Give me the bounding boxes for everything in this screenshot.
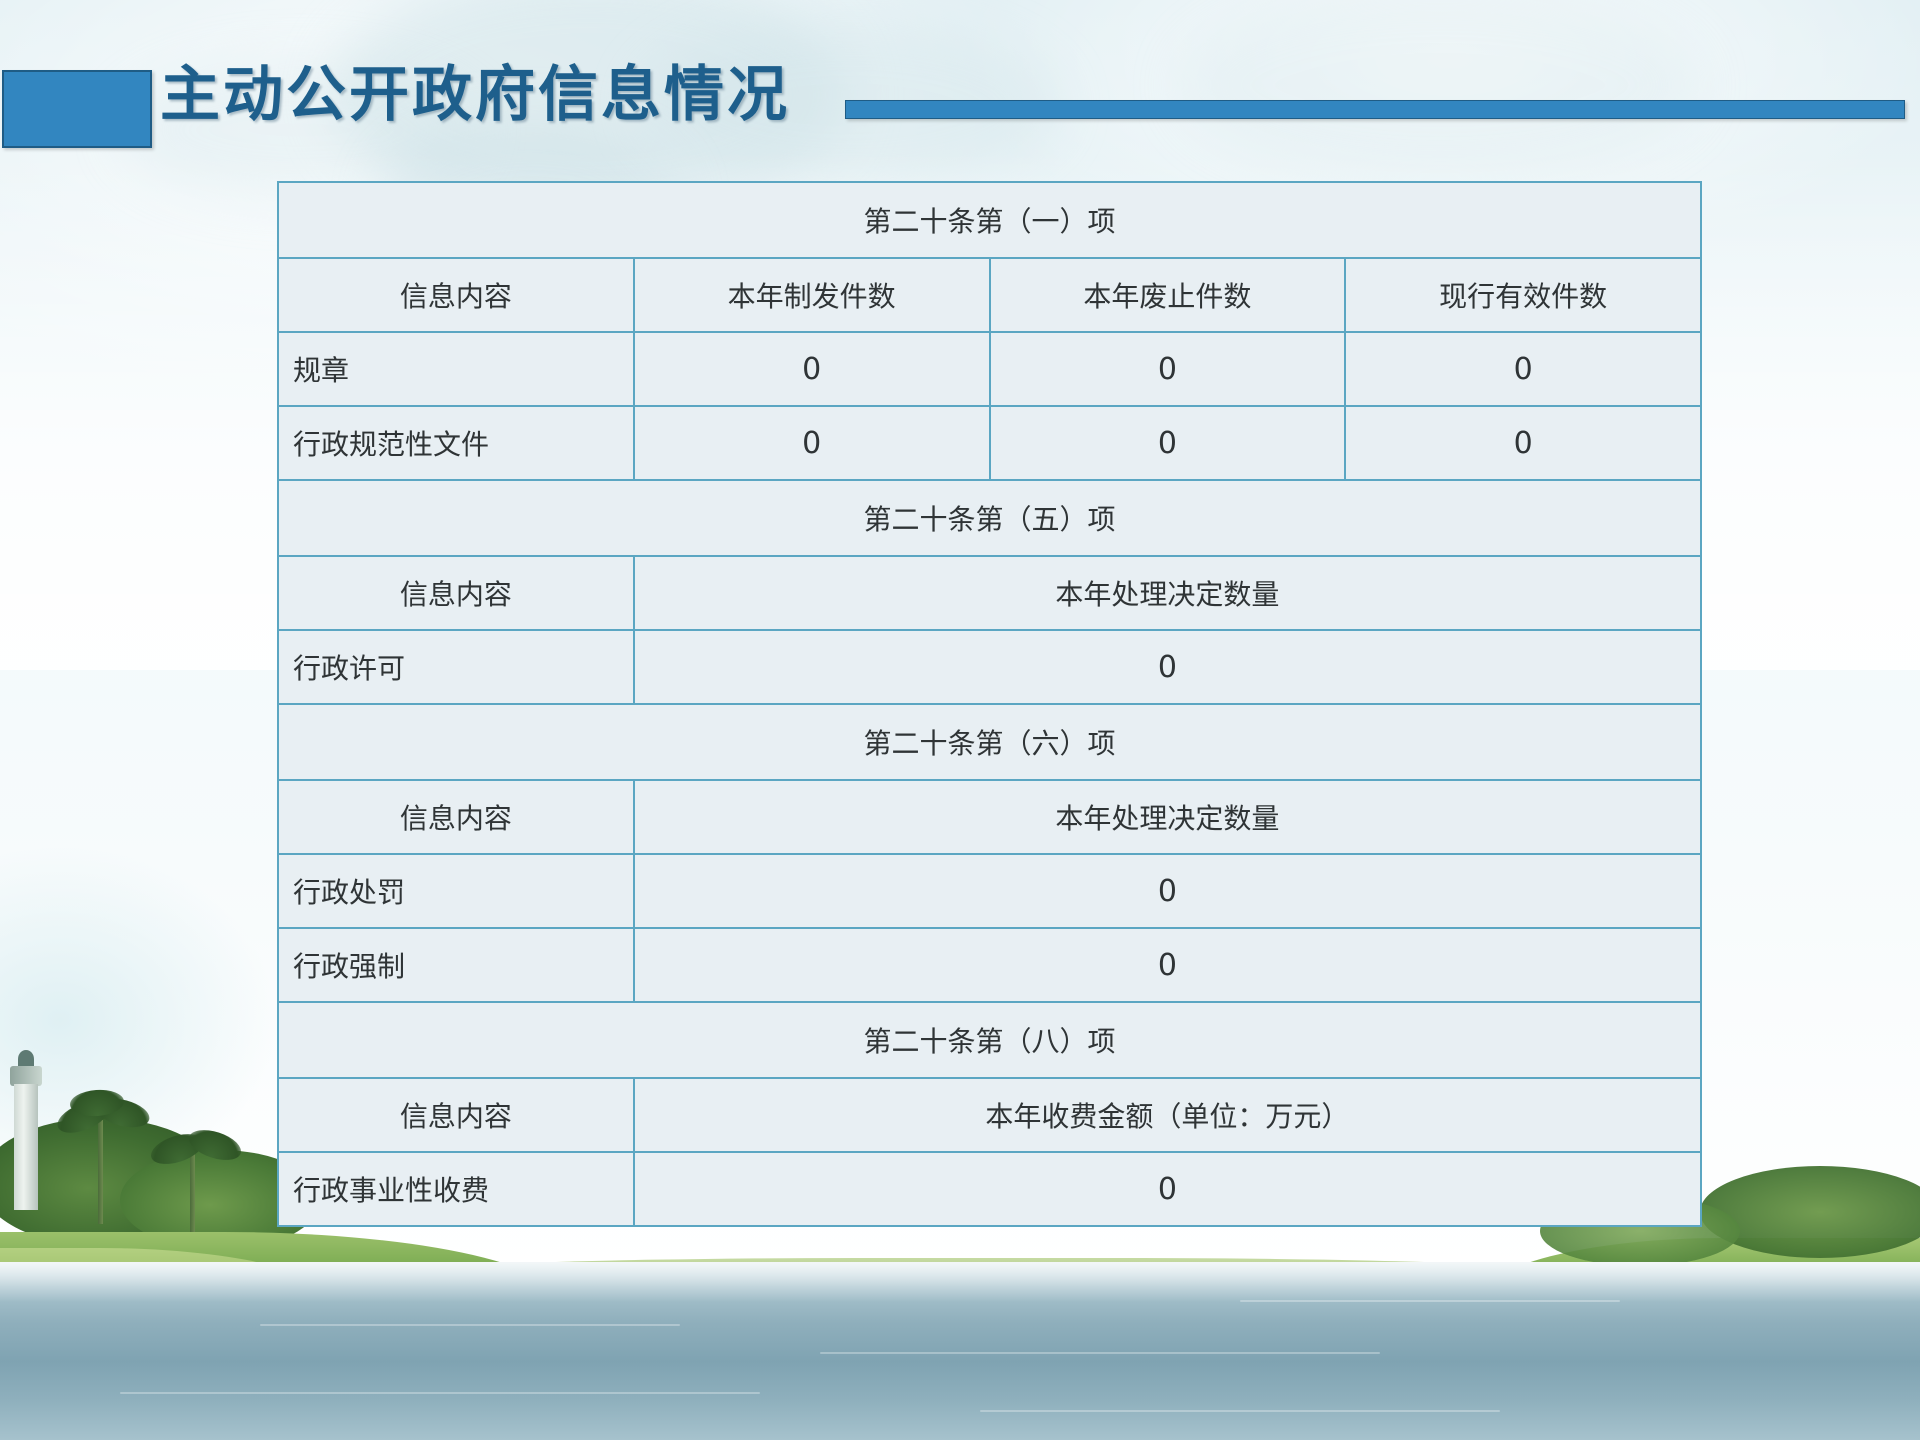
table-row: 行政处罚 0 [278,854,1701,928]
table-column-header-row: 信息内容 本年处理决定数量 [278,780,1701,854]
table-column-header-row: 信息内容 本年处理决定数量 [278,556,1701,630]
table-column-header-row: 信息内容 本年收费金额（单位：万元） [278,1078,1701,1152]
wave-line [260,1324,680,1326]
table-column-header-row: 信息内容 本年制发件数 本年废止件数 现行有效件数 [278,258,1701,332]
section-title: 第二十条第（一）项 [278,182,1701,258]
column-header: 信息内容 [278,258,634,332]
wave-line [120,1392,760,1394]
wave-line [1240,1300,1620,1302]
column-header: 本年废止件数 [990,258,1346,332]
cell-value: 0 [634,406,990,480]
cell-value: 0 [634,332,990,406]
title-accent-block [2,70,152,148]
cell-value: 0 [634,854,1701,928]
table-row: 行政规范性文件 0 0 0 [278,406,1701,480]
table-section-header-row: 第二十条第（五）项 [278,480,1701,556]
information-disclosure-table: 第二十条第（一）项 信息内容 本年制发件数 本年废止件数 现行有效件数 规章 0… [277,181,1702,1227]
cell-value: 0 [1345,332,1701,406]
column-header: 本年制发件数 [634,258,990,332]
palm-tree-icon [148,1128,258,1246]
column-header: 现行有效件数 [1345,258,1701,332]
cell-value: 0 [634,928,1701,1002]
table-row: 行政强制 0 [278,928,1701,1002]
information-disclosure-table-container: 第二十条第（一）项 信息内容 本年制发件数 本年废止件数 现行有效件数 规章 0… [277,181,1702,1227]
wave-line [820,1352,1380,1354]
row-label: 行政规范性文件 [278,406,634,480]
column-header: 本年处理决定数量 [634,780,1701,854]
row-label: 行政事业性收费 [278,1152,634,1226]
column-header: 信息内容 [278,780,634,854]
column-header: 信息内容 [278,1078,634,1152]
page-title: 主动公开政府信息情况 [160,46,790,133]
table-row: 行政事业性收费 0 [278,1152,1701,1226]
row-label: 行政强制 [278,928,634,1002]
wave-line [980,1410,1500,1412]
table-section-header-row: 第二十条第（一）项 [278,182,1701,258]
cell-value: 0 [990,332,1346,406]
column-header: 本年收费金额（单位：万元） [634,1078,1701,1152]
slide-header: 主动公开政府信息情况 [0,0,1920,170]
row-label: 规章 [278,332,634,406]
cell-value: 0 [634,1152,1701,1226]
row-label: 行政处罚 [278,854,634,928]
section-title: 第二十条第（八）项 [278,1002,1701,1078]
cell-value: 0 [990,406,1346,480]
cell-value: 0 [634,630,1701,704]
lighthouse-icon [8,1050,44,1210]
title-underline-bar [845,100,1905,119]
section-title: 第二十条第（五）项 [278,480,1701,556]
section-title: 第二十条第（六）项 [278,704,1701,780]
table-section-header-row: 第二十条第（八）项 [278,1002,1701,1078]
column-header: 本年处理决定数量 [634,556,1701,630]
water-shine [0,1262,1920,1302]
row-label: 行政许可 [278,630,634,704]
table-section-header-row: 第二十条第（六）项 [278,704,1701,780]
table-row: 行政许可 0 [278,630,1701,704]
cell-value: 0 [1345,406,1701,480]
column-header: 信息内容 [278,556,634,630]
table-row: 规章 0 0 0 [278,332,1701,406]
